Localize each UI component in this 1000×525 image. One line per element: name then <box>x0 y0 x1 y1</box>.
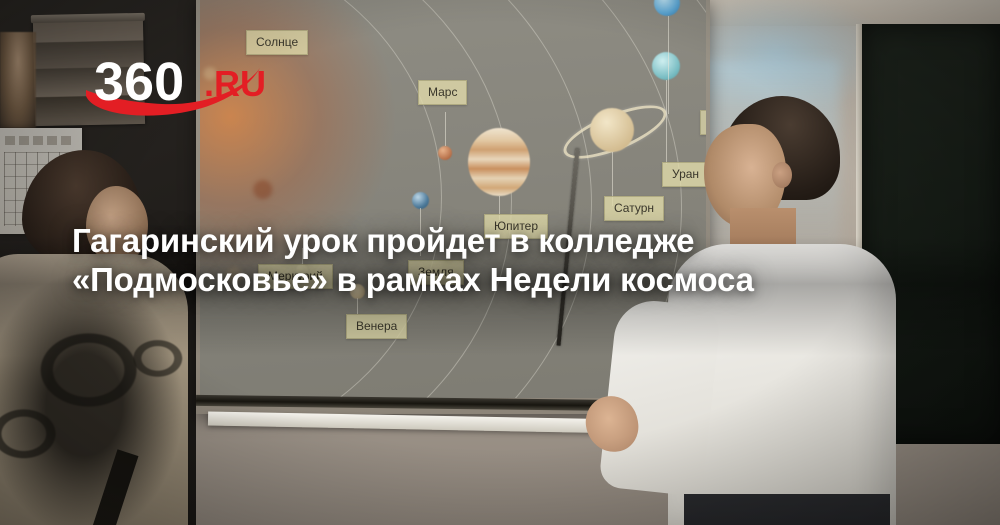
leader-line-venus <box>357 298 358 314</box>
planet-saturn <box>590 108 634 152</box>
student-ear <box>772 162 792 188</box>
calendar-header <box>5 136 75 145</box>
wall-portrait <box>0 32 36 128</box>
logo-suffix-text: .RU <box>204 63 266 104</box>
planet-uranus <box>652 52 680 80</box>
leader-line-mars <box>445 112 446 146</box>
teacher-figure <box>0 150 178 525</box>
planet-mars <box>438 146 452 160</box>
student-figure <box>660 96 910 525</box>
news-photo-card: Солнце Меркурий Венера Земля Марс Юпитер… <box>0 0 1000 525</box>
slide-label-mars: Марс <box>418 80 467 105</box>
headline: Гагаринский урок пройдет в колледже «Под… <box>0 222 1000 299</box>
planet-earth <box>412 192 429 209</box>
slide-label-saturn: Сатурн <box>604 196 664 221</box>
logo-main-text: 360 <box>94 52 184 112</box>
student-trousers <box>684 494 890 525</box>
brand-logo[interactable]: 360 .RU <box>84 46 294 120</box>
planet-jupiter <box>468 128 530 196</box>
logo-360ru-icon: 360 .RU <box>84 46 294 120</box>
slide-label-venus: Венера <box>346 314 407 339</box>
